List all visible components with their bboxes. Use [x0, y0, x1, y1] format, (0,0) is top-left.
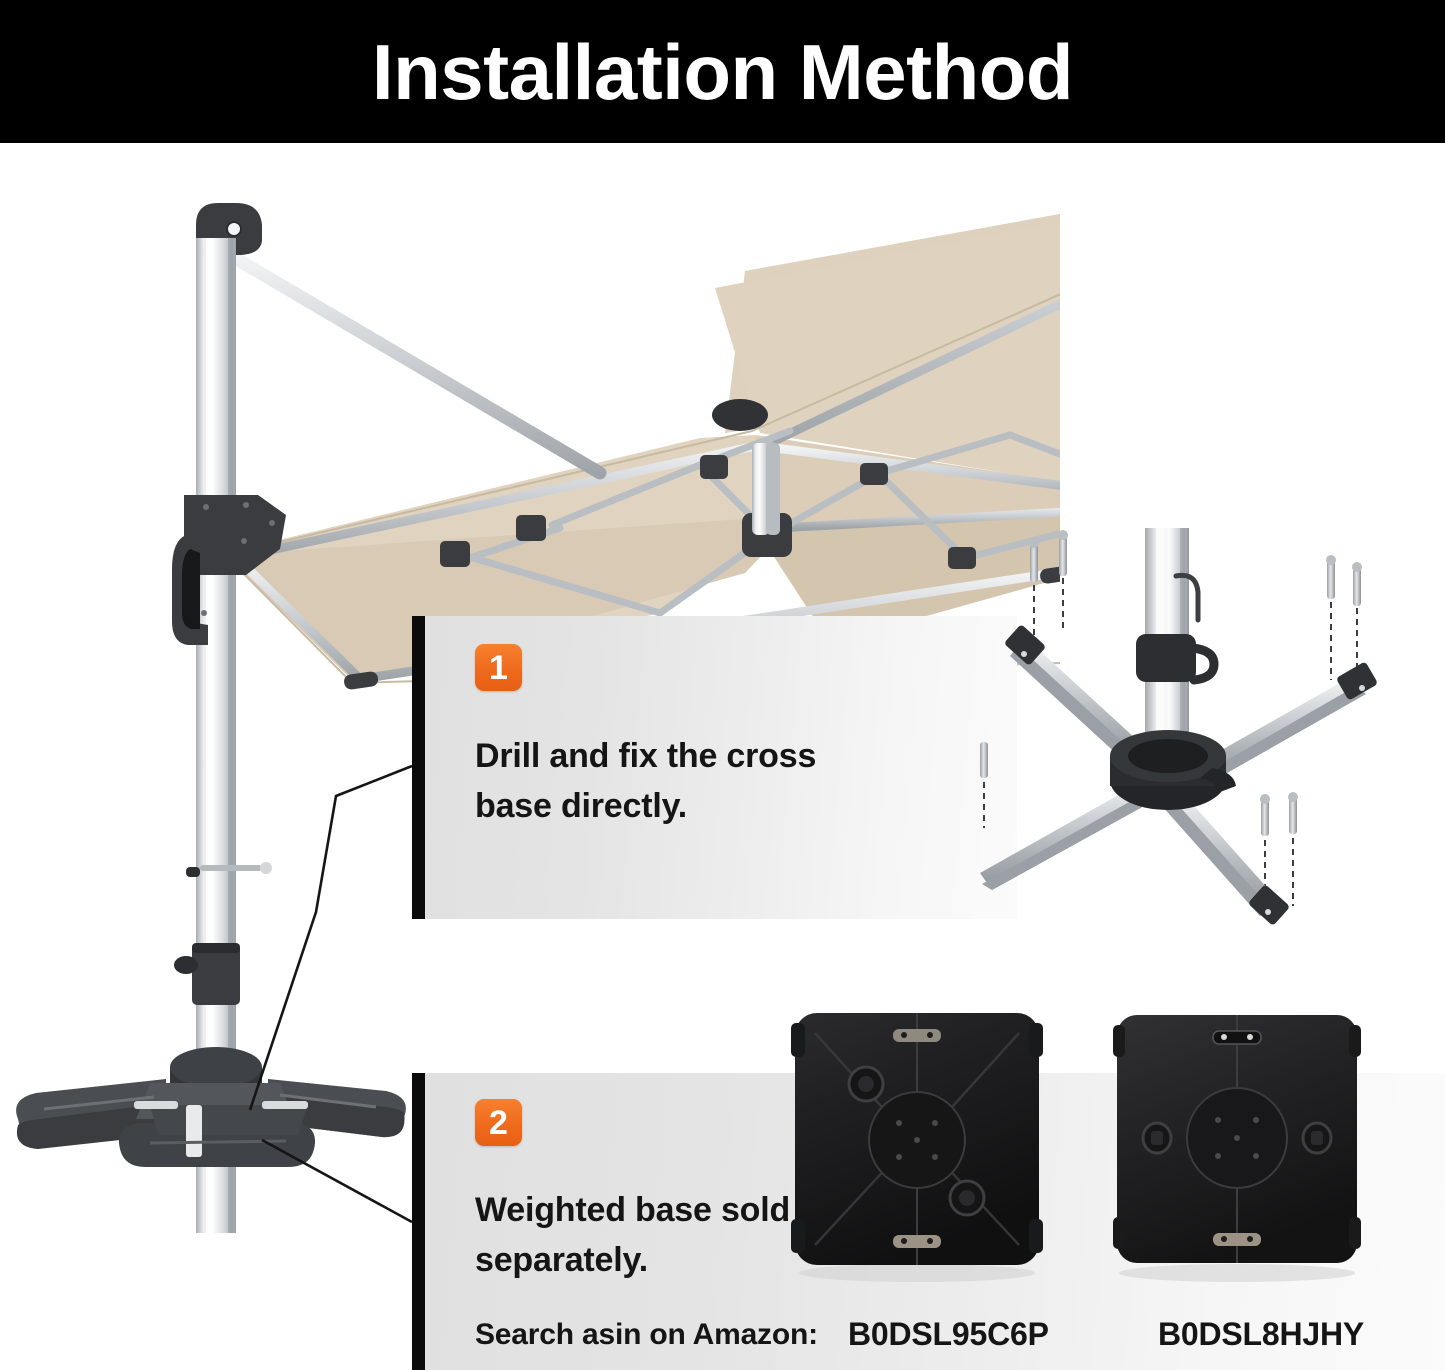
cross-base-plate	[16, 1079, 406, 1173]
header-bar: Installation Method	[0, 0, 1445, 143]
pole-collar	[174, 943, 240, 1005]
weighted-base-image-2	[1107, 1005, 1367, 1285]
screw-group-top-left	[1029, 530, 1068, 638]
asin-code-1: B0DSL95C6P	[848, 1316, 1049, 1353]
pole-clamp	[1136, 634, 1214, 682]
weighted-base-image-1	[787, 1005, 1047, 1285]
canopy-hub	[752, 443, 780, 535]
upper-support-arm	[235, 258, 600, 473]
step-1-badge: 1	[475, 644, 522, 691]
step-2-accent-bar	[412, 1073, 425, 1370]
cross-base-image	[980, 528, 1445, 958]
step-1-panel: 1 Drill and fix the cross base directly.	[412, 616, 1017, 919]
page-title: Installation Method	[372, 33, 1073, 111]
infographic-page: Installation Method	[0, 0, 1445, 1370]
step-1-accent-bar	[412, 616, 425, 919]
screw-group-left-lower	[980, 742, 988, 828]
step-2-badge: 2	[475, 1099, 522, 1146]
product-stage: 1 Drill and fix the cross base directly.	[0, 143, 1445, 1370]
cross-base-hub	[1110, 730, 1236, 810]
step-1-body: 1 Drill and fix the cross base directly.	[425, 616, 1017, 919]
asin-search-label: Search asin on Amazon:	[475, 1318, 818, 1352]
step-1-text: Drill and fix the cross base directly.	[475, 731, 905, 832]
asin-code-2: B0DSL8HJHY	[1158, 1316, 1364, 1353]
